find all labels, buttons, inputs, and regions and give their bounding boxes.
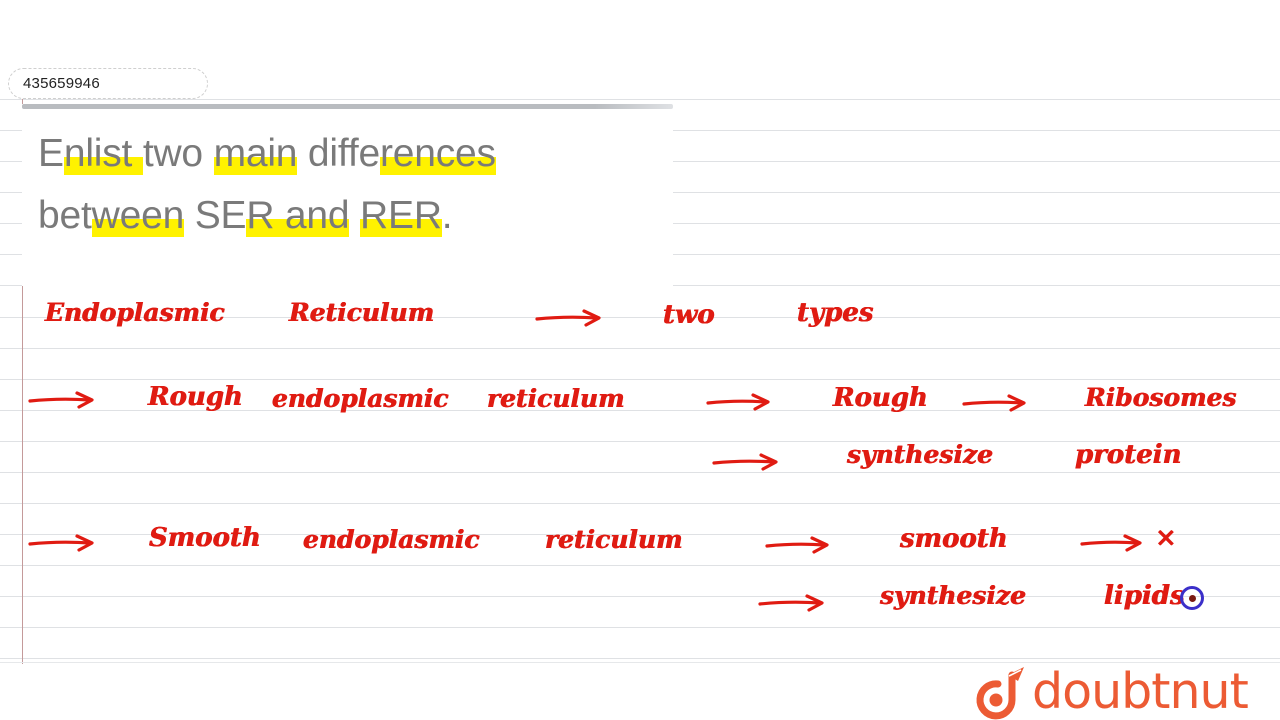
- question-line-1: Enlist two main differences: [38, 123, 658, 185]
- handwritten-arrow-icon: [758, 592, 830, 614]
- question-line-2: between SER and RER.: [38, 185, 658, 247]
- question-text: Enlist two main differences between SER …: [38, 123, 658, 247]
- question-line-1-run-0: E: [38, 132, 64, 175]
- blue-ring-cursor-dot-icon: [1189, 595, 1196, 602]
- question-panel: Enlist two main differences between SER …: [22, 104, 673, 286]
- rule-line: [0, 503, 1280, 504]
- answer-page: 435659946 Enlist two main differences be…: [0, 0, 1280, 720]
- handwritten-word: types: [797, 298, 873, 328]
- handwritten-arrow-icon: [28, 532, 100, 554]
- handwritten-word: Endoplasmic: [45, 298, 225, 327]
- handwritten-arrow-icon: [1080, 532, 1148, 554]
- handwritten-arrow-icon: [28, 389, 100, 411]
- question-line-1-run-3: main: [214, 132, 298, 175]
- question-id-badge: 435659946: [8, 68, 208, 99]
- question-line-1-run-2: two: [143, 132, 214, 175]
- handwritten-word: endoplasmic: [272, 384, 449, 413]
- handwritten-arrow-icon: [535, 307, 607, 329]
- doubtnut-wordmark: doubtnut: [1032, 667, 1248, 716]
- handwritten-word: two: [663, 300, 715, 330]
- handwritten-word: Reticulum: [289, 298, 434, 327]
- handwritten-word: endoplasmic: [303, 525, 480, 554]
- question-line-1-run-5: rences: [380, 132, 496, 175]
- question-line-1-run-1: nlist: [64, 132, 143, 175]
- handwritten-word: Rough: [148, 382, 243, 412]
- handwritten-arrow-icon: [706, 391, 776, 413]
- question-id-value: 435659946: [23, 75, 100, 92]
- handwritten-word: protein: [1075, 440, 1182, 470]
- rule-line: [0, 658, 1280, 659]
- question-line-2-run-0: bet: [38, 194, 92, 237]
- question-line-2-run-4: [349, 194, 360, 237]
- question-line-1-run-4: diffe: [297, 132, 380, 175]
- question-line-2-run-6: .: [442, 194, 453, 237]
- handwritten-word: ×: [1155, 523, 1177, 553]
- handwritten-arrow-icon: [765, 534, 835, 556]
- question-line-2-run-1: ween: [92, 194, 184, 237]
- question-line-2-run-3: R and: [246, 194, 349, 237]
- doubtnut-mark-icon: [968, 663, 1024, 720]
- rule-line: [0, 379, 1280, 380]
- handwritten-word: Rough: [833, 383, 928, 413]
- handwritten-word: reticulum: [487, 384, 625, 413]
- question-line-2-run-2: SE: [184, 194, 246, 237]
- rule-line: [0, 472, 1280, 473]
- rule-line: [0, 596, 1280, 597]
- handwritten-arrow-icon: [962, 392, 1032, 414]
- handwritten-word: synthesize: [847, 440, 993, 469]
- handwritten-word: synthesize: [880, 581, 1026, 610]
- question-line-2-run-5: RER: [360, 194, 442, 237]
- handwritten-word: smooth: [900, 524, 1008, 554]
- panel-top-bar: [22, 104, 673, 109]
- handwritten-word: Smooth: [149, 523, 261, 553]
- handwritten-word: reticulum: [545, 525, 683, 554]
- rule-line: [0, 348, 1280, 349]
- rule-line: [0, 627, 1280, 628]
- rule-line: [0, 99, 1280, 100]
- rule-line: [0, 565, 1280, 566]
- doubtnut-logo[interactable]: doubtnut: [968, 663, 1248, 720]
- handwritten-word: Ribosomes: [1085, 383, 1237, 412]
- handwritten-word: lipids: [1104, 581, 1185, 611]
- handwritten-arrow-icon: [712, 451, 784, 473]
